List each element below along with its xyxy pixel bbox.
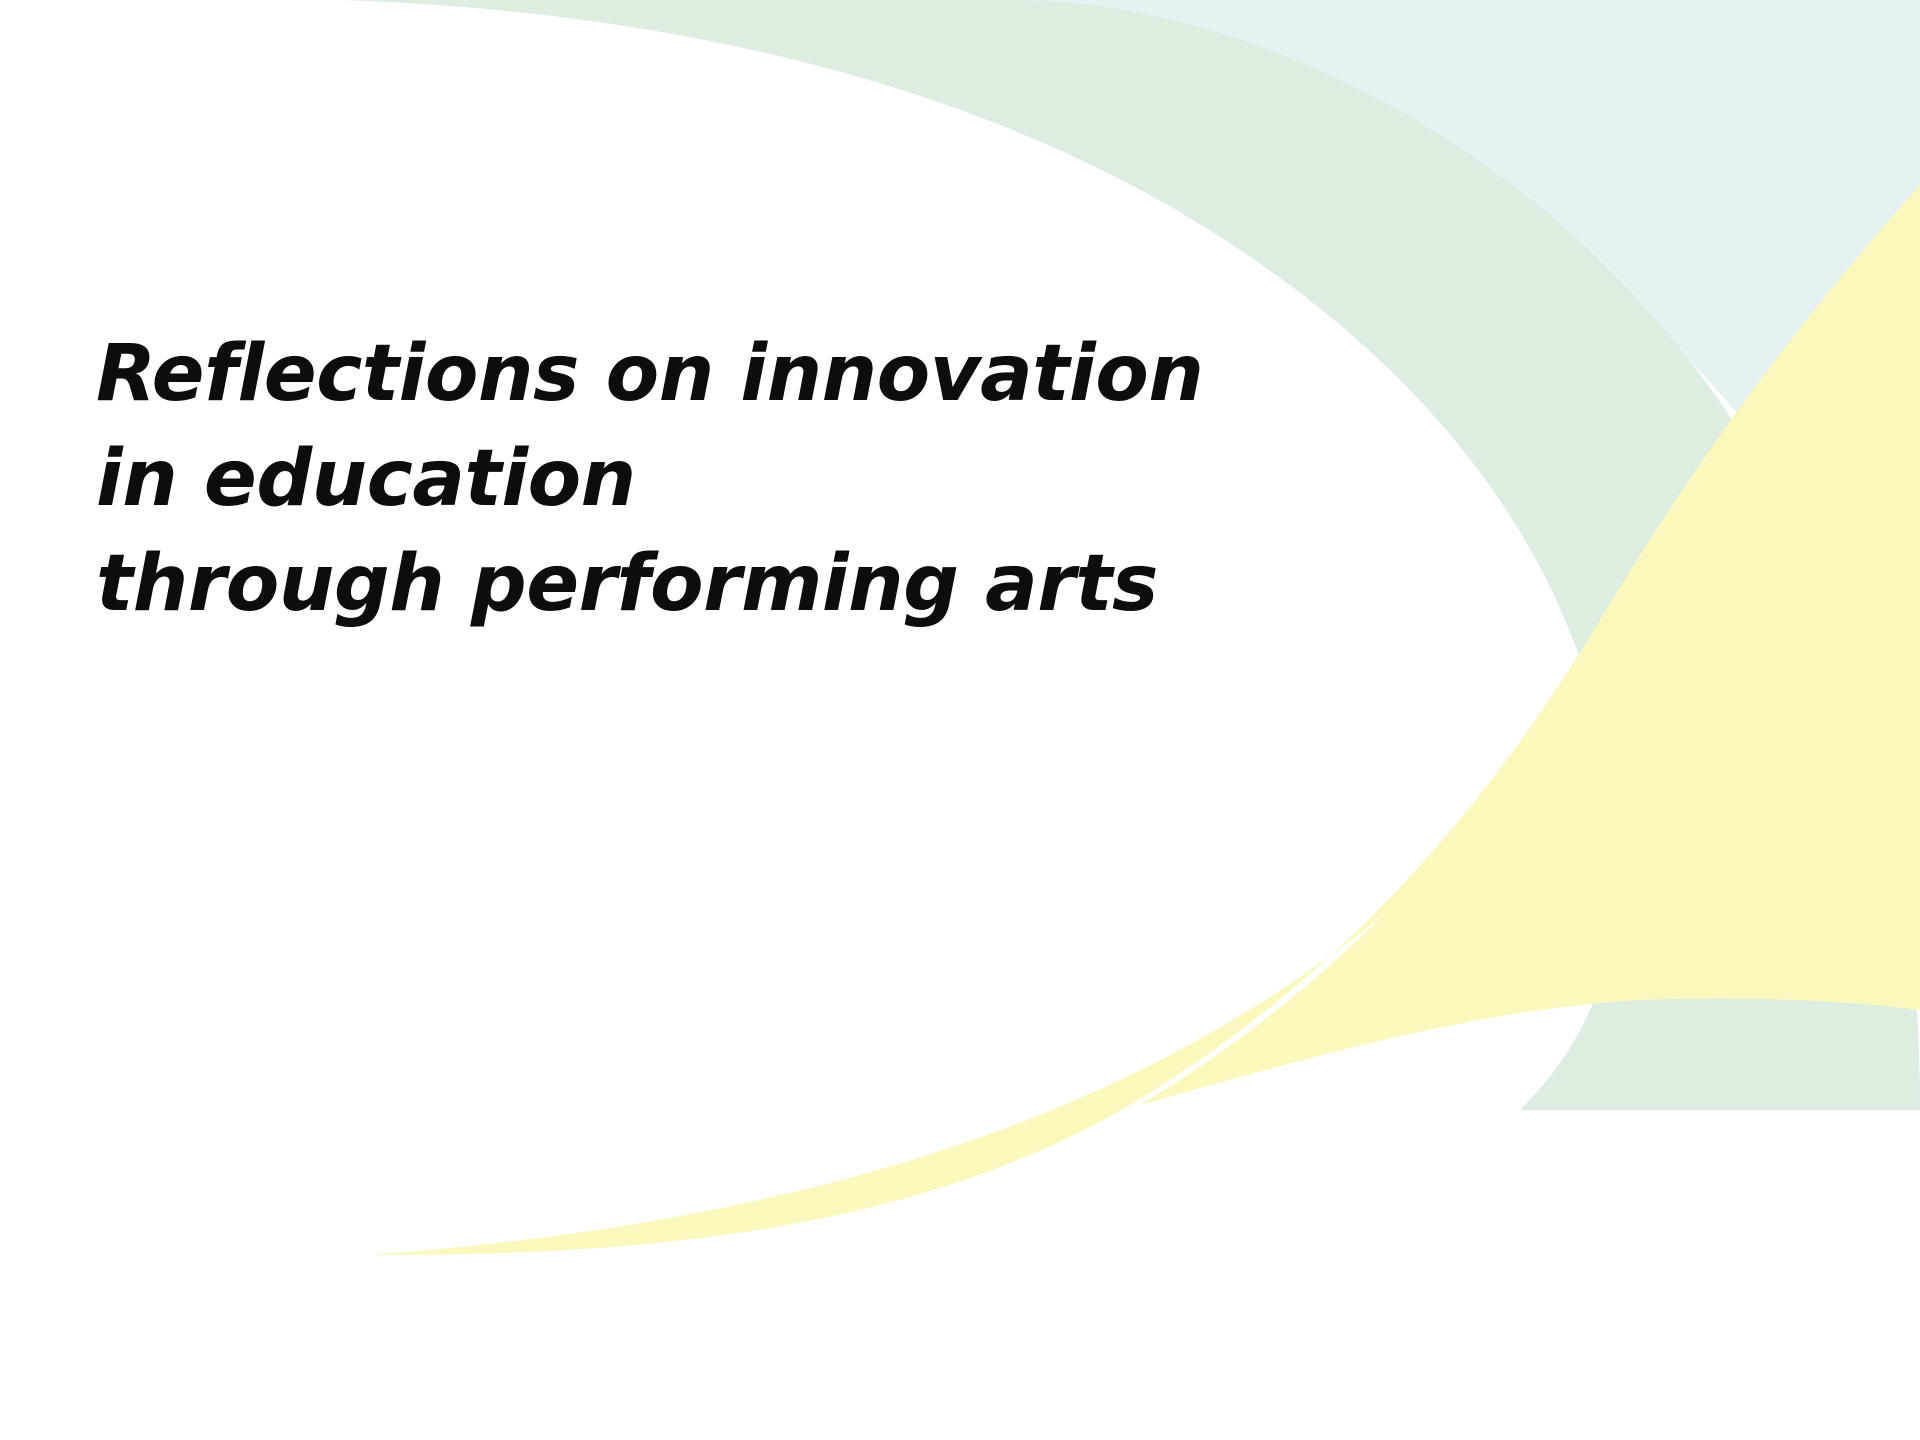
- decorative-swoosh-group: [0, 0, 1920, 1440]
- title-slide: Reflections on innovation in education t…: [0, 0, 1920, 1440]
- title-line-1: Reflections on innovation: [96, 322, 1456, 427]
- slide-title: Reflections on innovation in education t…: [96, 322, 1456, 637]
- title-line-3: through performing arts: [96, 532, 1456, 637]
- title-line-2: in education: [96, 427, 1456, 532]
